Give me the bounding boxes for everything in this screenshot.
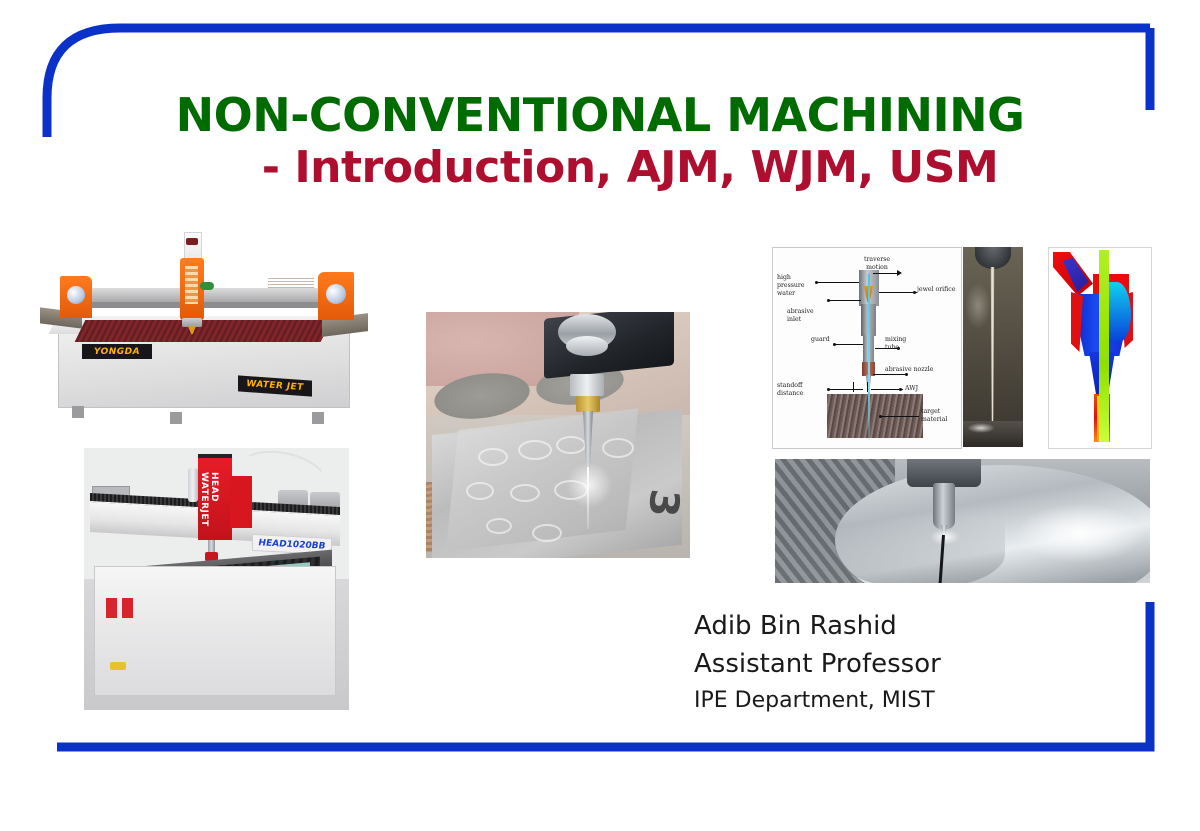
marker-scribble: 3 [615, 485, 688, 525]
label-jewel-orifice: jewel orifice [917, 286, 957, 294]
disc-specular-highlight [1015, 503, 1145, 563]
label-target-material: target material [921, 408, 955, 424]
engraving-9 [532, 524, 562, 542]
figure-yongda-waterjet-machine: YONGDA WATER JET [22, 232, 392, 444]
catcher-tank [94, 566, 336, 696]
gantry-carriage-red-side [230, 476, 252, 528]
floor-marker [110, 662, 126, 670]
standoff-tick-right [867, 382, 868, 392]
machine-cutting-bed [75, 320, 332, 342]
machine-type-label: WATER JET [246, 379, 303, 393]
author-name: Adib Bin Rashid [694, 608, 941, 646]
leader-abrasive-inlet [829, 300, 861, 301]
engraving-4 [602, 438, 634, 458]
leader-standoff [829, 389, 863, 390]
stream-impact-glow [967, 423, 995, 433]
engraving-3 [556, 436, 586, 454]
figure-plate-cutting: 3 [426, 312, 690, 558]
page-subtitle: - Introduction, AJM, WJM, USM [110, 145, 1090, 191]
stream-background-blur [965, 283, 991, 329]
leader-target-material [881, 416, 919, 417]
figure-cfd-simulation [1048, 247, 1152, 449]
nozzle-body [570, 374, 604, 396]
machine-brand-label: YONGDA [94, 347, 140, 357]
nozzle-brass-nut [576, 396, 600, 412]
disc-shadow-edge [835, 519, 1005, 583]
stream-nozzle-head [975, 247, 1011, 269]
machine-spec-text [268, 278, 314, 288]
figure-head-waterjet-machine: HEAD WATERJET HEAD1020BB [84, 448, 349, 710]
label-traverse-motion: traverse motion [855, 256, 899, 272]
label-awj: AWJ [905, 385, 931, 393]
dot-jewel-orifice [913, 291, 916, 294]
leader-abrasive-nozzle [873, 374, 907, 375]
machine-disc-right [326, 284, 346, 304]
leader-high-pressure-water [817, 282, 859, 283]
engraving-1 [478, 448, 508, 466]
author-role: Assistant Professor [694, 646, 941, 684]
traverse-arrow-line [873, 273, 899, 274]
label-standoff-distance: standoff distance [777, 382, 823, 398]
cfd-high-velocity-core [1099, 250, 1109, 442]
machine-foot-3 [312, 412, 324, 424]
gantry-brand-label: HEAD WATERJET [204, 472, 218, 520]
figure-awj-schematic: traverse motion high pressure water jewe… [772, 247, 962, 449]
figure-jet-stream-photo [963, 247, 1023, 447]
label-abrasive-nozzle: abrasive nozzle [885, 366, 943, 374]
disc-nozzle-body [933, 483, 955, 529]
standoff-tick-left [853, 382, 854, 392]
warning-stripe-1 [106, 598, 117, 618]
label-high-pressure-water: high pressure water [777, 274, 817, 297]
nozzle-collar-ring-lower [566, 336, 608, 356]
machine-sensor-arm [200, 282, 214, 290]
engraving-2 [518, 440, 552, 460]
machine-foot-1 [72, 406, 84, 418]
dot-abrasive-inlet [827, 299, 830, 302]
machine-foot-2 [170, 412, 182, 424]
dot-standoff [827, 388, 830, 391]
machine-brand-plate: YONGDA [82, 344, 152, 359]
leader-jewel-orifice [879, 292, 917, 293]
cfd-wall-left [1071, 292, 1083, 352]
schematic-jet-exit-spray [868, 392, 870, 440]
water-jet-stream [587, 467, 589, 529]
stream-water-jet [989, 267, 996, 433]
machine-cross-rail [70, 288, 340, 302]
machine-nozzle [182, 318, 202, 327]
author-block: Adib Bin Rashid Assistant Professor IPE … [694, 608, 941, 717]
leader-guard [835, 344, 863, 345]
title-block: NON-CONVENTIONAL MACHINING - Introductio… [110, 92, 1090, 191]
cut-spray-glow [566, 462, 612, 508]
warning-stripe-2 [122, 598, 133, 618]
disc-impact-glow [930, 529, 960, 545]
figure-disc-cutting [775, 459, 1150, 583]
engraving-6 [510, 484, 540, 502]
presentation-slide: NON-CONVENTIONAL MACHINING - Introductio… [0, 0, 1200, 831]
high-pressure-cylinder [188, 468, 198, 502]
page-title: NON-CONVENTIONAL MACHINING [110, 92, 1090, 139]
label-mixing-tube: mixing tube [885, 336, 913, 352]
label-abrasive-inlet: abrasive inlet [787, 308, 827, 324]
label-guard: guard [811, 336, 835, 344]
model-badge-label: HEAD1020BB [259, 538, 326, 552]
author-department: IPE Department, MIST [694, 685, 941, 717]
machine-head-vents [185, 266, 198, 304]
engraving-8 [486, 518, 512, 534]
engraving-5 [466, 482, 494, 500]
dot-target-material [879, 415, 882, 418]
schematic-jet-core [868, 274, 870, 394]
machine-knob [186, 238, 198, 245]
machine-disc-left [67, 286, 85, 304]
dot-awj [899, 388, 902, 391]
machine-cross-rail-shadow [70, 302, 340, 308]
